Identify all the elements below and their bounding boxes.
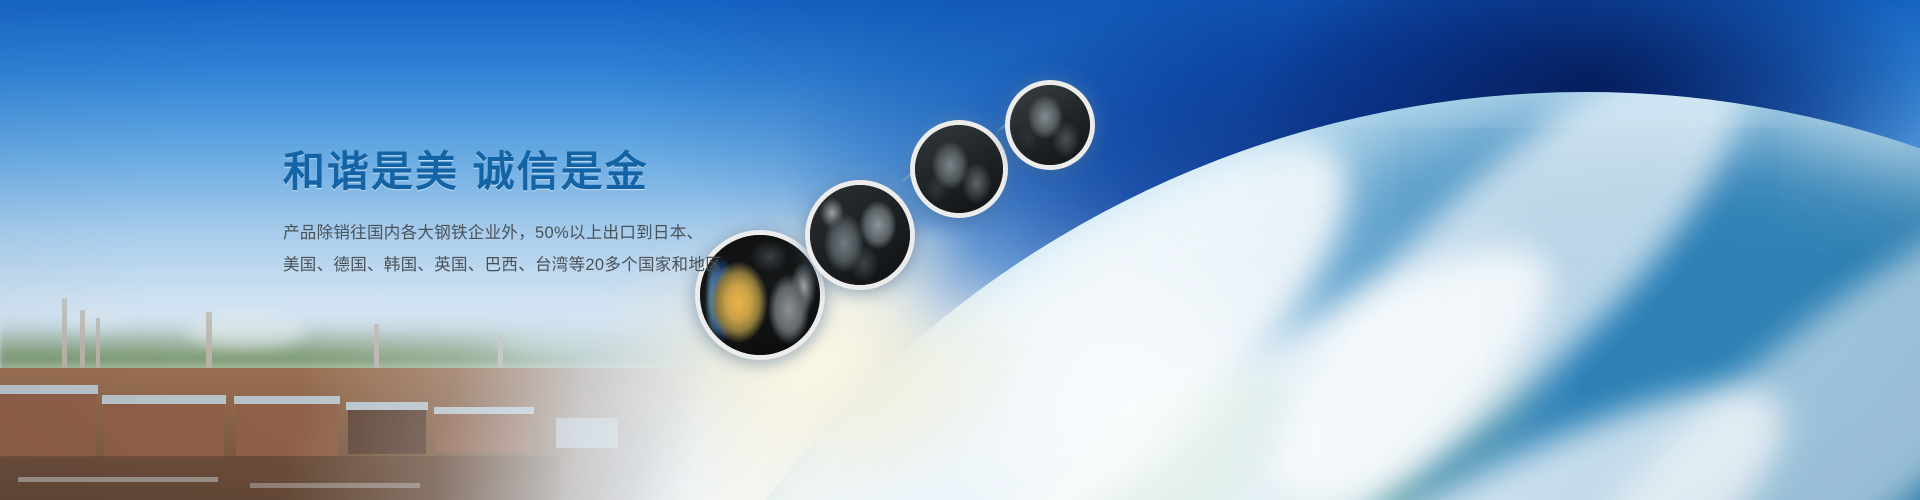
factory-building <box>436 408 532 452</box>
banner-subtitle-line-1: 产品除销往国内各大钢铁企业外，50%以上出口到日本、 <box>283 217 713 249</box>
small-ore-rocks-sample <box>1010 85 1090 165</box>
factory-roof <box>556 418 618 448</box>
iridescent-coke-sample <box>700 235 820 355</box>
plant-road-marking <box>18 477 218 482</box>
smoke-plume <box>186 314 306 348</box>
mineral-node-1[interactable] <box>695 230 825 360</box>
factory-roof <box>102 395 226 404</box>
factory-roof <box>0 385 98 394</box>
mineral-node-4[interactable] <box>1005 80 1095 170</box>
chimney-stack <box>374 324 379 372</box>
mineral-node-2[interactable] <box>805 180 915 290</box>
banner-subtitle-line-2: 美国、德国、韩国、英国、巴西、台湾等20多个国家和地区... <box>283 249 713 281</box>
dark-ore-rocks-sample <box>915 125 1003 213</box>
factory-building <box>236 398 338 456</box>
factory-building <box>104 398 224 460</box>
chimney-stack <box>62 298 67 372</box>
smoke-plume <box>498 330 588 354</box>
factory-building <box>348 404 426 454</box>
factory-roof <box>234 396 340 404</box>
banner-copy: 和谐是美 诚信是金 产品除销往国内各大钢铁企业外，50%以上出口到日本、 美国、… <box>283 148 713 281</box>
gray-ore-rocks-sample <box>810 185 910 285</box>
chimney-stack <box>96 318 100 370</box>
industrial-plant-photo <box>0 260 720 500</box>
factory-building <box>0 388 96 458</box>
factory-roof <box>434 407 534 414</box>
mineral-node-3[interactable] <box>910 120 1008 218</box>
plant-road-marking <box>250 483 420 488</box>
promo-banner: 和谐是美 诚信是金 产品除销往国内各大钢铁企业外，50%以上出口到日本、 美国、… <box>0 0 1920 500</box>
banner-subtitle: 产品除销往国内各大钢铁企业外，50%以上出口到日本、 美国、德国、韩国、英国、巴… <box>283 217 713 281</box>
factory-roof <box>346 402 428 410</box>
chimney-stack <box>206 312 212 370</box>
smoke-plume <box>60 306 130 332</box>
banner-headline: 和谐是美 诚信是金 <box>283 148 713 195</box>
chimney-stack <box>80 310 85 372</box>
